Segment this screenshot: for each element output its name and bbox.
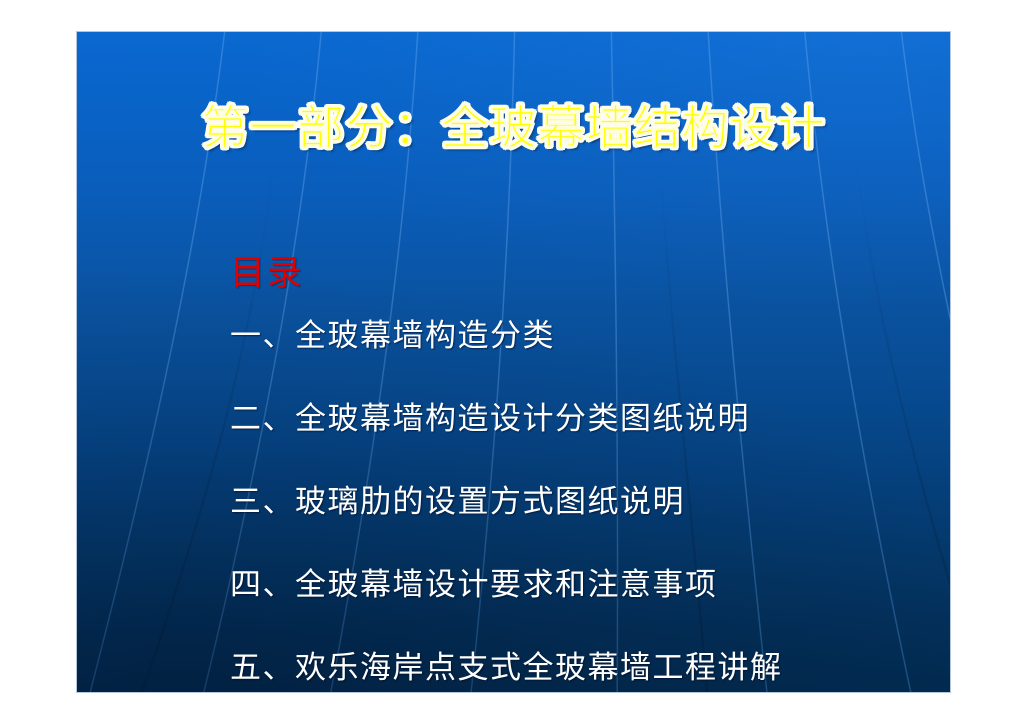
list-item: 三、玻璃肋的设置方式图纸说明	[230, 486, 930, 569]
list-item: 四、全玻幕墙设计要求和注意事项	[230, 569, 930, 652]
slide-content: 第一部分：全玻幕墙结构设计 目录 一、全玻幕墙构造分类 二、全玻幕墙构造设计分类…	[77, 32, 950, 692]
list-item: 二、全玻幕墙构造设计分类图纸说明	[230, 403, 930, 486]
list-item: 一、全玻幕墙构造分类	[230, 320, 930, 403]
presentation-slide: 第一部分：全玻幕墙结构设计 目录 一、全玻幕墙构造分类 二、全玻幕墙构造设计分类…	[77, 32, 950, 692]
page-canvas: 第一部分：全玻幕墙结构设计 目录 一、全玻幕墙构造分类 二、全玻幕墙构造设计分类…	[0, 0, 1024, 724]
toc-heading: 目录	[230, 256, 304, 291]
list-item: 五、欢乐海岸点支式全玻幕墙工程讲解	[230, 652, 930, 692]
slide-title: 第一部分：全玻幕墙结构设计	[77, 104, 950, 155]
toc-list: 一、全玻幕墙构造分类 二、全玻幕墙构造设计分类图纸说明 三、玻璃肋的设置方式图纸…	[230, 320, 930, 692]
